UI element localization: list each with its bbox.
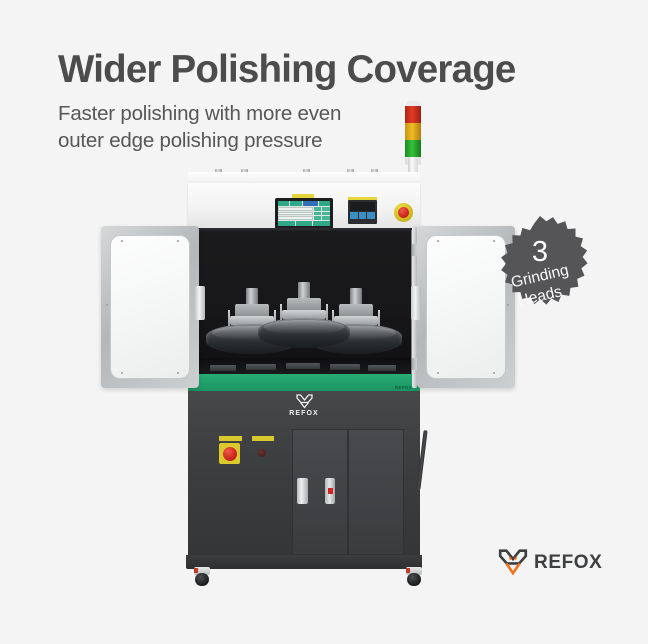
hmi-field-2[interactable]	[278, 212, 313, 216]
cabinet-door-handle-left[interactable]	[297, 478, 308, 504]
fox-head-icon	[296, 394, 313, 409]
hmi-field-1[interactable]	[278, 207, 313, 211]
hmi-tab-4[interactable]	[319, 201, 330, 206]
floor-fixture-2	[246, 364, 276, 370]
caster-wheel	[195, 573, 209, 586]
product-marketing-poster: Wider Polishing Coverage Faster polishin…	[0, 0, 648, 644]
machine-model-text: REFOX	[395, 385, 412, 390]
door-screw	[121, 240, 123, 242]
hmi-key-2[interactable]	[322, 207, 330, 211]
machine-base	[186, 555, 422, 569]
hmi-screen-content[interactable]	[278, 201, 330, 226]
hmi-key-6[interactable]	[322, 216, 330, 220]
hmi-keypad[interactable]	[314, 207, 330, 220]
door-screw	[121, 372, 123, 374]
hmi-touchscreen[interactable]	[275, 198, 333, 229]
hmi-tab-3-active[interactable]	[303, 201, 318, 206]
controller-readout	[350, 202, 375, 211]
emergency-stop-cap[interactable]	[398, 207, 409, 218]
controller-button-row[interactable]	[350, 212, 375, 219]
hmi-tab-2[interactable]	[290, 201, 301, 206]
hmi-action-row[interactable]	[278, 221, 330, 226]
floor-fixture-5	[368, 365, 396, 371]
glass-door-handle-left[interactable]	[195, 286, 205, 320]
hmi-action-reset[interactable]	[313, 221, 330, 226]
emergency-stop-cap[interactable]	[223, 447, 237, 461]
status-indicator-lamp	[258, 449, 266, 457]
caster-wheel-left	[192, 567, 212, 587]
hmi-action-stop[interactable]	[296, 221, 313, 226]
floor-fixture-4	[330, 364, 360, 370]
estop-label-strip	[219, 436, 242, 441]
controller-button-2[interactable]	[359, 212, 367, 219]
green-accent-band: REFOX	[188, 374, 420, 391]
hmi-tab-1[interactable]	[278, 201, 289, 206]
door-lock-indicator	[328, 488, 333, 494]
lower-cabinet-door-right[interactable]	[348, 429, 404, 555]
grinding-heads-badge: 3 Grinding Heads	[487, 216, 593, 322]
glass-door-handle-right[interactable]	[411, 286, 421, 320]
hmi-key-5[interactable]	[314, 216, 322, 220]
door-screw	[177, 240, 179, 242]
door-glass-pane	[110, 235, 190, 379]
floor-fixture-1	[210, 365, 236, 371]
grinding-head-2	[256, 282, 352, 352]
door-screw	[437, 240, 439, 242]
polishing-platen	[258, 318, 350, 348]
chamber-top-lip	[196, 228, 412, 232]
left-glass-door[interactable]	[101, 226, 199, 388]
controller-button-1[interactable]	[350, 212, 358, 219]
door-screw	[437, 372, 439, 374]
door-screw	[177, 372, 179, 374]
machine-body-logo-text: REFOX	[289, 410, 319, 417]
emergency-stop-button[interactable]	[219, 443, 240, 464]
hmi-key-1[interactable]	[314, 207, 322, 211]
caster-brake-lever[interactable]	[194, 568, 198, 573]
fox-head-icon	[498, 548, 528, 578]
hmi-field-3[interactable]	[278, 216, 313, 220]
machine-body-logo: REFOX	[188, 394, 420, 417]
emergency-stop-button[interactable]	[394, 203, 413, 222]
door-screw	[106, 304, 108, 306]
digital-temperature-controller[interactable]	[348, 200, 377, 224]
hmi-tab-row[interactable]	[278, 201, 330, 206]
indicator-label-strip	[252, 436, 274, 441]
door-screw	[493, 372, 495, 374]
brand-wordmark: REFOX	[534, 552, 602, 574]
hmi-parameter-fields[interactable]	[278, 207, 313, 220]
cabinet-door-handle-right[interactable]	[325, 478, 335, 504]
hmi-key-4[interactable]	[322, 212, 330, 216]
brand-logo: REFOX	[498, 548, 602, 578]
hmi-body[interactable]	[278, 207, 330, 220]
caster-wheel-right	[404, 567, 424, 587]
caster-brake-lever[interactable]	[406, 568, 410, 573]
controller-button-3[interactable]	[367, 212, 375, 219]
caster-wheel	[407, 573, 421, 586]
hmi-action-start[interactable]	[278, 221, 295, 226]
floor-fixture-3	[286, 363, 320, 369]
hmi-key-3[interactable]	[314, 212, 322, 216]
